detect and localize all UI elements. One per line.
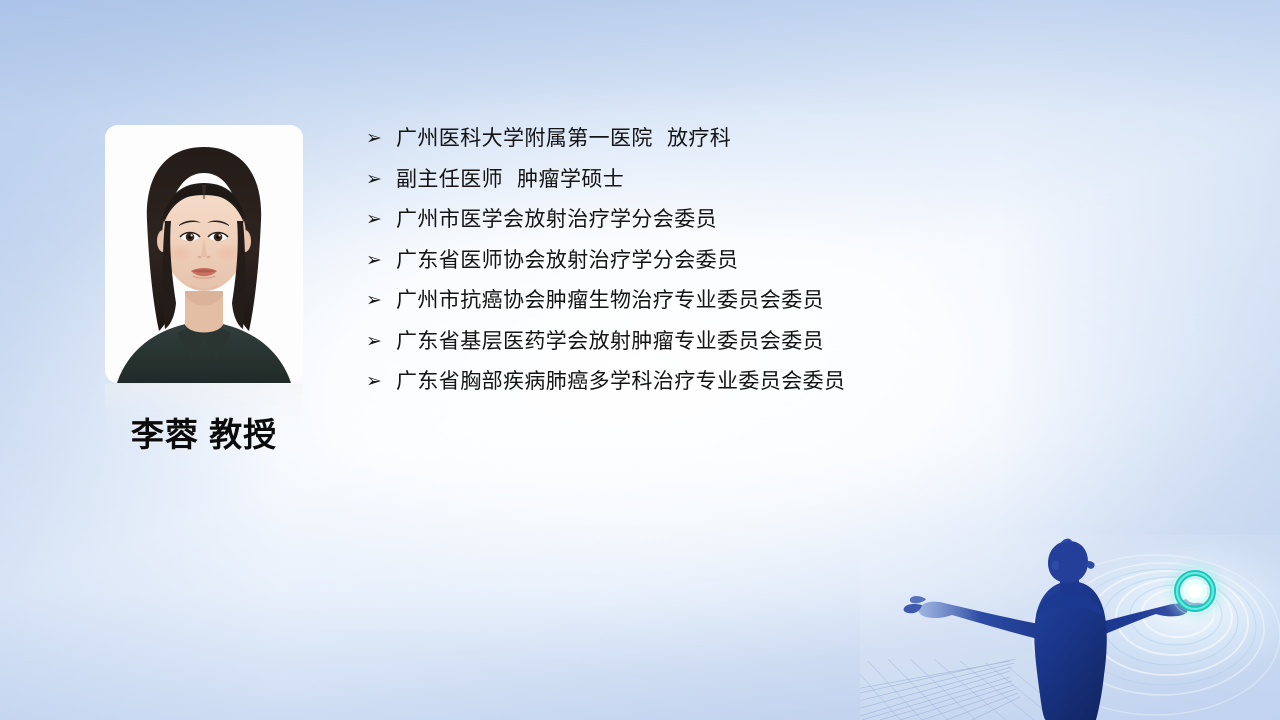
arrow-bullet-icon: ➢ bbox=[366, 332, 396, 351]
credential-item: ➢ 广东省胸部疾病肺癌多学科治疗专业委员会委员 bbox=[366, 371, 986, 412]
arrow-bullet-icon: ➢ bbox=[366, 129, 396, 148]
speaker-portrait-block bbox=[105, 125, 303, 436]
credential-item: ➢ 副主任医师 肿瘤学硕士 bbox=[366, 169, 986, 210]
speaker-name-caption: 李蓉 教授 bbox=[105, 408, 303, 456]
arrow-bullet-icon: ➢ bbox=[366, 291, 396, 310]
arrow-bullet-icon: ➢ bbox=[366, 372, 396, 391]
credential-item: ➢ 广东省医师协会放射治疗学分会委员 bbox=[366, 250, 986, 291]
arrow-bullet-icon: ➢ bbox=[366, 251, 396, 270]
credential-text: 广东省胸部疾病肺癌多学科治疗专业委员会委员 bbox=[396, 371, 845, 392]
credential-item: ➢ 广州医科大学附属第一医院 放疗科 bbox=[366, 128, 986, 169]
slide-canvas: 李蓉 教授 ➢ 广州医科大学附属第一医院 放疗科 ➢ 副主任医师 肿瘤学硕士 ➢… bbox=[0, 0, 1280, 720]
credential-item: ➢ 广州市抗癌协会肿瘤生物治疗专业委员会委员 bbox=[366, 290, 986, 331]
credential-text: 副主任医师 肿瘤学硕士 bbox=[396, 169, 624, 190]
arrow-bullet-icon: ➢ bbox=[366, 210, 396, 229]
blue-human-figure-graphic bbox=[860, 535, 1280, 720]
credential-item: ➢ 广州市医学会放射治疗学分会委员 bbox=[366, 209, 986, 250]
credential-text: 广东省基层医药学会放射肿瘤专业委员会委员 bbox=[396, 331, 824, 352]
credential-text: 广州市抗癌协会肿瘤生物治疗专业委员会委员 bbox=[396, 290, 824, 311]
speaker-photo bbox=[105, 125, 303, 383]
credential-text: 广州医科大学附属第一医院 放疗科 bbox=[396, 128, 731, 149]
arrow-bullet-icon: ➢ bbox=[366, 170, 396, 189]
credential-item: ➢ 广东省基层医药学会放射肿瘤专业委员会委员 bbox=[366, 331, 986, 372]
credential-text: 广东省医师协会放射治疗学分会委员 bbox=[396, 250, 738, 271]
credential-text: 广州市医学会放射治疗学分会委员 bbox=[396, 209, 717, 230]
credentials-list: ➢ 广州医科大学附属第一医院 放疗科 ➢ 副主任医师 肿瘤学硕士 ➢ 广州市医学… bbox=[366, 128, 986, 412]
